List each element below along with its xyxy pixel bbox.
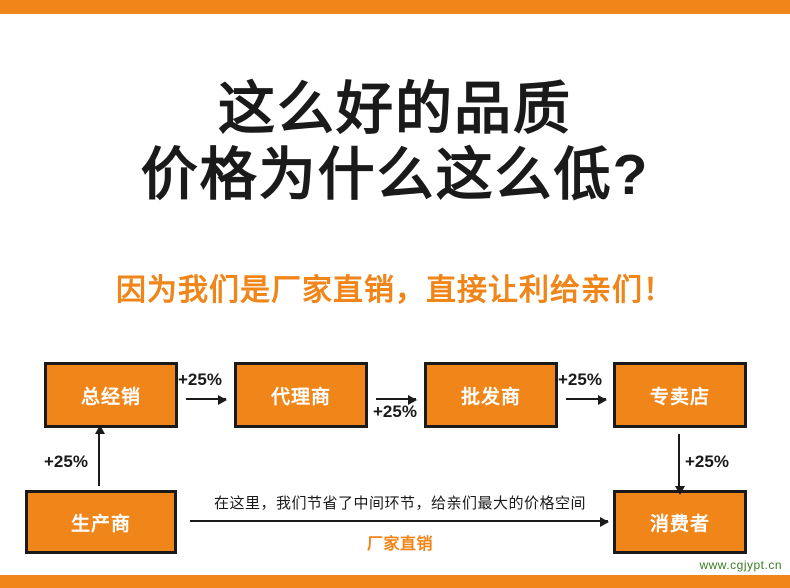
markup-label-1: +25%: [178, 370, 222, 390]
bottom-accent-bar: [0, 575, 790, 588]
arrow-right-icon: [566, 398, 606, 400]
headline-line-1: 这么好的品质: [0, 80, 790, 140]
arrow-up-icon: [98, 434, 100, 486]
node-specialty-store: 专卖店: [613, 362, 747, 428]
arrow-right-long-icon: [190, 520, 608, 522]
markup-label-4: +25%: [44, 452, 88, 472]
top-accent-bar: [0, 0, 790, 14]
distribution-flow-diagram: 总经销 代理商 批发商 专卖店 生产商 消费者 +25% +25% +25% +…: [0, 340, 790, 570]
arrow-right-icon: [376, 398, 416, 400]
node-label: 总经销: [81, 382, 141, 409]
page-title: 这么好的品质 价格为什么这么低?: [0, 80, 790, 206]
node-consumer: 消费者: [613, 490, 747, 554]
node-label: 消费者: [650, 509, 710, 536]
markup-label-2: +25%: [373, 402, 417, 422]
direct-path-note: 在这里，我们节省了中间环节，给亲们最大的价格空间: [190, 492, 610, 513]
node-agent: 代理商: [234, 362, 368, 428]
markup-label-3: +25%: [558, 370, 602, 390]
arrow-right-icon: [186, 398, 226, 400]
node-label: 生产商: [71, 509, 131, 536]
promo-banner: 这么好的品质 价格为什么这么低? 因为我们是厂家直销，直接让利给亲们！ 总经销 …: [0, 0, 790, 588]
watermark: www.cgjypt.cn: [699, 558, 782, 572]
markup-label-5: +25%: [685, 452, 729, 472]
node-label: 批发商: [461, 382, 521, 409]
node-manufacturer: 生产商: [25, 490, 177, 554]
arrow-down-icon: [678, 434, 680, 486]
node-label: 代理商: [271, 382, 331, 409]
subheadline: 因为我们是厂家直销，直接让利给亲们！: [0, 265, 790, 309]
node-label: 专卖店: [650, 382, 710, 409]
direct-path-label: 厂家直销: [190, 530, 610, 554]
headline-line-2: 价格为什么这么低?: [0, 146, 790, 206]
node-wholesaler: 批发商: [424, 362, 558, 428]
node-general-distributor: 总经销: [44, 362, 178, 428]
